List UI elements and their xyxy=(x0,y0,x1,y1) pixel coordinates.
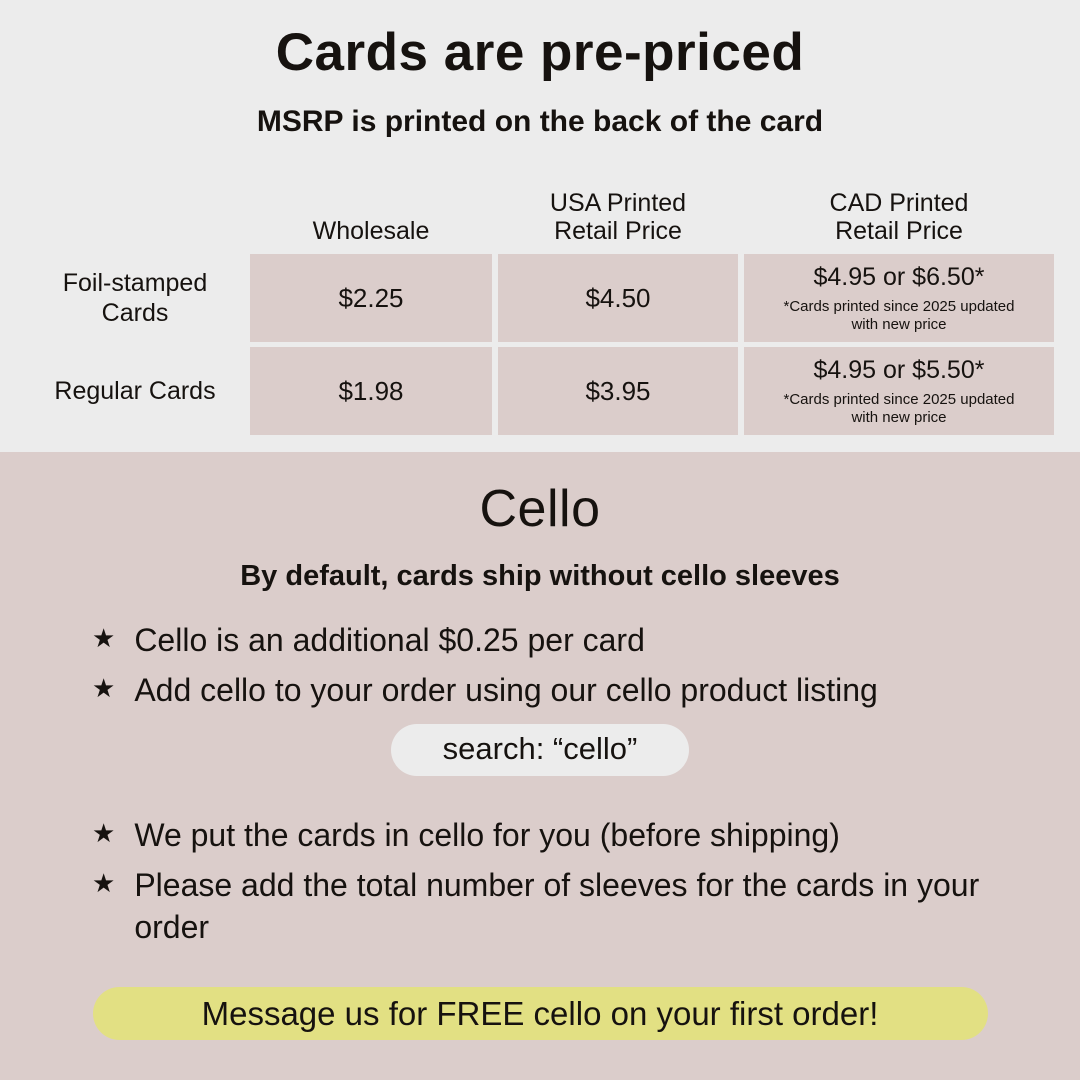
cello-bullet-list-continued: ★ We put the cards in cello for you (bef… xyxy=(70,814,1010,957)
list-item-text: Add cello to your order using our cello … xyxy=(134,669,1010,711)
cello-title: Cello xyxy=(480,481,601,538)
list-item-text: Cello is an additional $0.25 per card xyxy=(134,619,1010,661)
column-header-cad-line2: Retail Price xyxy=(835,217,963,245)
column-header-usa-retail: USA Printed Retail Price xyxy=(498,189,738,249)
search-hint-pill: search: “cello” xyxy=(391,724,690,776)
row-label-line1: Regular Cards xyxy=(54,377,215,405)
cell-foil-usa: $4.50 xyxy=(498,254,738,342)
cad-note-line1: *Cards printed since 2025 updated xyxy=(784,391,1015,408)
pricing-table-body: Foil-stamped Cards $2.25 $4.50 $4.95 or … xyxy=(26,254,1054,435)
row-label-line2: Cards xyxy=(102,299,169,327)
cell-regular-usa: $3.95 xyxy=(498,347,738,435)
column-header-usa-line2: Retail Price xyxy=(554,217,682,245)
cad-note-line2: with new price xyxy=(851,409,946,426)
table-header-row: Wholesale USA Printed Retail Price CAD P… xyxy=(26,189,1054,249)
table-row: Foil-stamped Cards $2.25 $4.50 $4.95 or … xyxy=(26,254,1054,342)
pricing-section: Cards are pre-priced MSRP is printed on … xyxy=(0,0,1080,452)
cell-foil-cad: $4.95 or $6.50* *Cards printed since 202… xyxy=(744,254,1054,342)
pricing-table: Wholesale USA Printed Retail Price CAD P… xyxy=(20,184,1060,440)
star-icon: ★ xyxy=(92,814,115,853)
table-row: Regular Cards $1.98 $3.95 $4.95 or $5.50… xyxy=(26,347,1054,435)
column-header-usa-line1: USA Printed xyxy=(550,189,686,217)
page-title: Cards are pre-priced xyxy=(276,24,804,82)
pricing-and-cello-infographic: Cards are pre-priced MSRP is printed on … xyxy=(0,0,1080,1080)
cell-foil-wholesale: $2.25 xyxy=(250,254,492,342)
list-item: ★ Add cello to your order using our cell… xyxy=(70,669,1010,711)
cell-regular-cad: $4.95 or $5.50* *Cards printed since 202… xyxy=(744,347,1054,435)
cta-banner-free-cello[interactable]: Message us for FREE cello on your first … xyxy=(93,987,988,1040)
cell-regular-wholesale: $1.98 xyxy=(250,347,492,435)
pricing-table-head: Wholesale USA Printed Retail Price CAD P… xyxy=(26,189,1054,249)
list-item: ★ We put the cards in cello for you (bef… xyxy=(70,814,1010,856)
cello-subtitle: By default, cards ship without cello sle… xyxy=(240,560,840,593)
column-header-blank xyxy=(26,189,244,249)
cello-section: Cello By default, cards ship without cel… xyxy=(0,452,1080,1080)
search-hint-wrapper: search: “cello” xyxy=(0,724,1080,776)
cell-regular-cad-note: *Cards printed since 2025 updated with n… xyxy=(750,391,1048,427)
star-icon: ★ xyxy=(92,619,115,658)
star-icon: ★ xyxy=(92,669,115,708)
list-item-text: Please add the total number of sleeves f… xyxy=(134,864,1010,948)
cell-foil-cad-price: $4.95 or $6.50* xyxy=(750,263,1048,293)
cell-regular-cad-price: $4.95 or $5.50* xyxy=(750,356,1048,386)
cad-note-line1: *Cards printed since 2025 updated xyxy=(784,298,1015,315)
cello-bullet-list: ★ Cello is an additional $0.25 per card … xyxy=(70,619,1010,719)
list-item: ★ Cello is an additional $0.25 per card xyxy=(70,619,1010,661)
list-item: ★ Please add the total number of sleeves… xyxy=(70,864,1010,948)
cta-wrapper: Message us for FREE cello on your first … xyxy=(0,987,1080,1040)
list-item-text: We put the cards in cello for you (befor… xyxy=(134,814,1010,856)
row-label-foil-stamped: Foil-stamped Cards xyxy=(26,254,244,342)
column-header-cad-retail: CAD Printed Retail Price xyxy=(744,189,1054,249)
row-label-regular: Regular Cards xyxy=(26,347,244,435)
star-icon: ★ xyxy=(92,864,115,903)
page-subtitle: MSRP is printed on the back of the card xyxy=(257,104,823,140)
column-header-wholesale: Wholesale xyxy=(250,189,492,249)
cad-note-line2: with new price xyxy=(851,316,946,333)
column-header-wholesale-label: Wholesale xyxy=(313,217,430,245)
column-header-cad-line1: CAD Printed xyxy=(830,189,969,217)
cell-foil-cad-note: *Cards printed since 2025 updated with n… xyxy=(750,298,1048,334)
row-label-line1: Foil-stamped xyxy=(63,269,208,297)
